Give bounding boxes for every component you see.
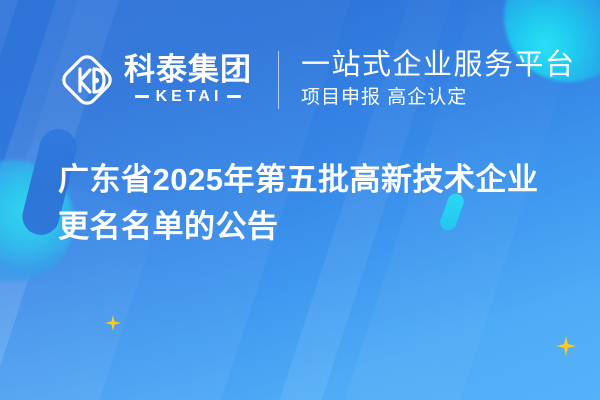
brand-name-cn: 科泰集团 [124, 54, 252, 86]
sparkle-star-icon [556, 336, 576, 356]
logo-dash-right [227, 95, 241, 98]
tagline-primary: 一站式企业服务平台 [301, 49, 576, 82]
brand-name-en: KETAI [156, 88, 223, 106]
brand-name-en-row: KETAI [124, 88, 252, 106]
banner-header: 科泰集团 KETAI 一站式企业服务平台 项目申报 高企认定 [0, 40, 600, 120]
announcement-title: 广东省2025年第五批高新技术企业更名名单的公告 [58, 156, 568, 250]
ketai-kd-monogram-icon [56, 49, 118, 111]
announcement-banner: 科泰集团 KETAI 一站式企业服务平台 项目申报 高企认定 广东省2025年第… [0, 0, 600, 400]
brand-logo-text: 科泰集团 KETAI [124, 54, 252, 106]
header-divider [278, 51, 279, 109]
tagline-secondary: 项目申报 高企认定 [301, 86, 576, 111]
logo-dash-left [135, 95, 149, 98]
sparkle-star-icon [105, 315, 121, 331]
brand-logo: 科泰集团 KETAI [56, 49, 252, 111]
tagline-block: 一站式企业服务平台 项目申报 高企认定 [301, 49, 576, 111]
